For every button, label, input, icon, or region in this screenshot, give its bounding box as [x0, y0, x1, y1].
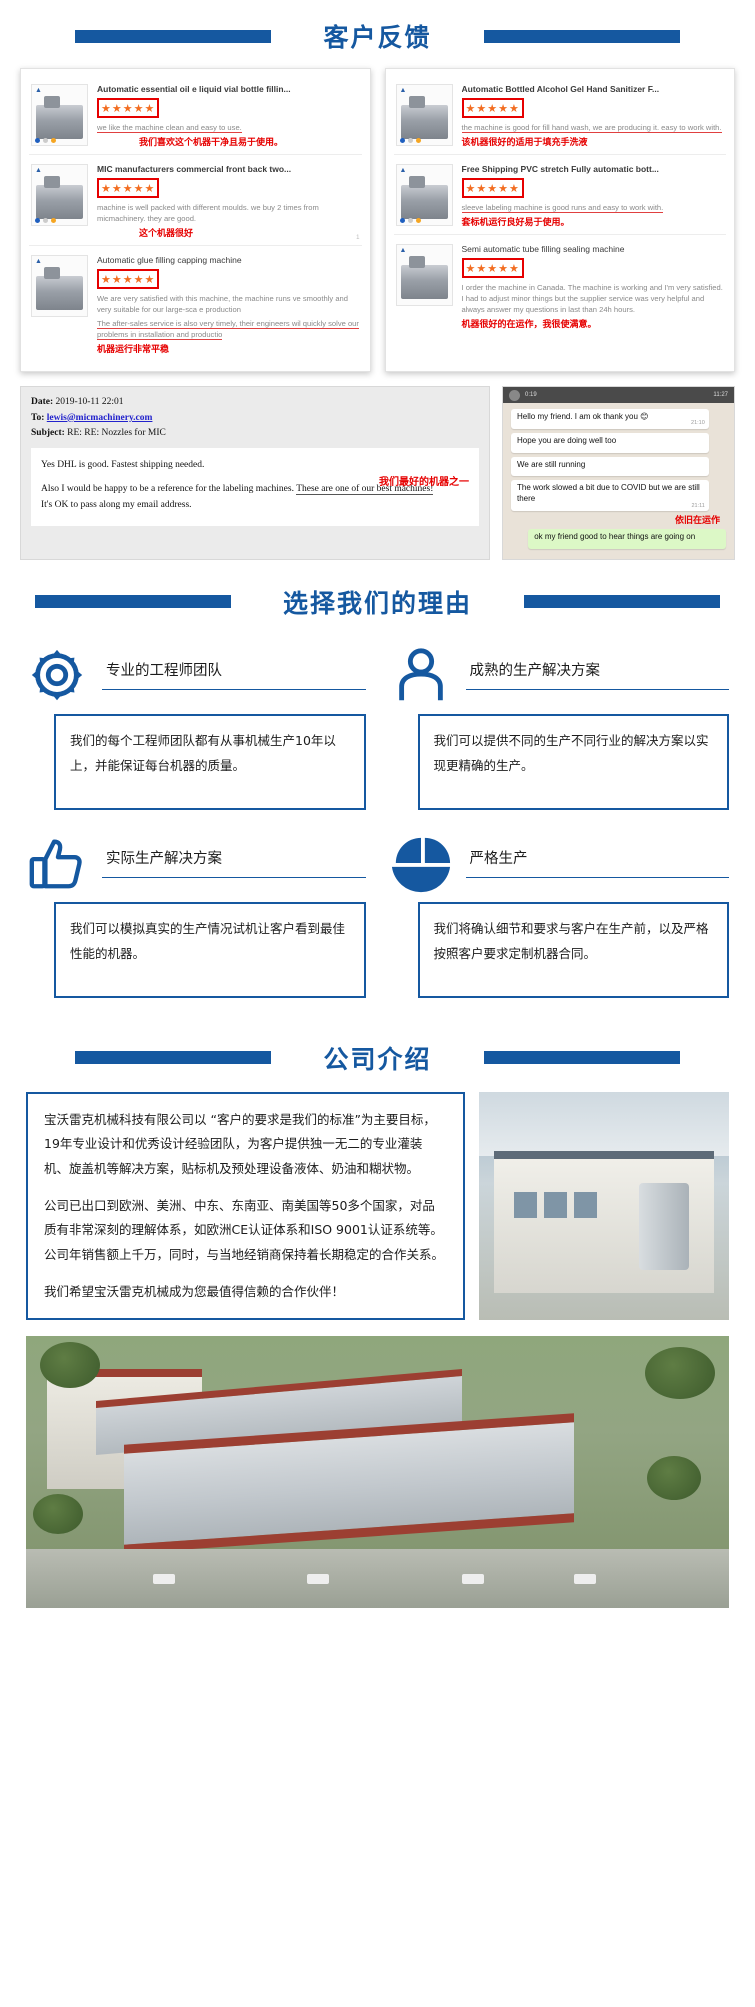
page-title-feedback: 客户反馈	[323, 18, 431, 54]
chat-header-time-right: 11:27	[713, 392, 728, 398]
whatsapp-chat-screenshot: 0:19 11:27 Hello my friend. I am ok than…	[502, 386, 735, 560]
proof-row: Date: 2019-10-11 22:01 To: lewis@micmach…	[0, 372, 755, 560]
email-text-cn: 我们最好的机器之一	[379, 474, 469, 491]
reason-body: 我们可以模拟真实的生产情况试机让客户看到最佳性能的机器。	[54, 902, 366, 998]
email-subject-value: RE: RE: Nozzles for MIC	[67, 428, 166, 438]
brand-logo-icon: ▲	[35, 258, 42, 265]
person-icon	[390, 644, 452, 706]
reasons-grid: 专业的工程师团队 我们的每个工程师团队都有从事机械生产10年以上，并能保证每台机…	[0, 634, 755, 1022]
star-rating-icon: ★★★★★	[462, 178, 524, 198]
gear-icon	[26, 644, 88, 706]
review-page-number: 1	[356, 235, 359, 241]
reason-title: 成熟的生产解决方案	[466, 659, 730, 690]
review-text-en: machine is well packed with different mo…	[97, 202, 360, 224]
email-line-4: It's OK to pass along my email address.	[41, 497, 469, 513]
product-thumbnail: ▲	[396, 244, 453, 306]
review-product-title[interactable]: Free Shipping PVC stretch Fully automati…	[462, 164, 725, 174]
email-screenshot: Date: 2019-10-11 22:01 To: lewis@micmach…	[20, 386, 490, 560]
star-rating-icon: ★★★★★	[97, 269, 159, 289]
review-card[interactable]: ▲ Automatic essential oil e liquid vial …	[29, 75, 362, 155]
review-card[interactable]: ▲ Free Shipping PVC stretch Fully automa…	[394, 155, 727, 235]
email-to-link[interactable]: lewis@micmachinery.com	[47, 413, 153, 423]
review-column-right: ▲ Automatic Bottled Alcohol Gel Hand San…	[385, 68, 736, 372]
reason-body: 我们将确认细节和要求与客户在生产前，以及严格按照客户要求定制机器合同。	[418, 902, 730, 998]
product-thumbnail: ▲	[31, 84, 88, 146]
review-card[interactable]: ▲ Semi automatic tube filling sealing ma…	[394, 235, 727, 336]
pie-chart-icon	[390, 832, 452, 894]
chat-message-time: 21:11	[691, 503, 704, 510]
review-text-cn: 机器运行非常平稳	[97, 342, 360, 355]
brand-logo-icon: ▲	[400, 167, 407, 174]
section-header-company: 公司介绍	[0, 1022, 755, 1090]
section-header-reasons: 选择我们的理由	[0, 566, 755, 634]
company-intro-p2: 公司已出口到欧洲、美洲、中东、东南亚、南美国等50多个国家，对品质有非常深刻的理…	[44, 1194, 447, 1267]
factory-aerial-photo	[26, 1336, 729, 1608]
avatar	[509, 390, 520, 401]
reviews-grid: ▲ Automatic essential oil e liquid vial …	[0, 68, 755, 372]
email-to-label: To:	[31, 413, 44, 423]
header-bar-right	[524, 595, 720, 608]
chat-header: 0:19 11:27	[503, 387, 734, 403]
star-rating-icon: ★★★★★	[97, 178, 159, 198]
chat-message-text: ok my friend good to hear things are goi…	[534, 532, 695, 541]
color-dots-icon	[35, 138, 56, 143]
review-column-left: ▲ Automatic essential oil e liquid vial …	[20, 68, 371, 372]
color-dots-icon	[35, 218, 56, 223]
review-product-title[interactable]: Automatic essential oil e liquid vial bo…	[97, 84, 360, 94]
reason-title: 严格生产	[466, 847, 730, 878]
review-text-cn: 套标机运行良好易于使用。	[462, 215, 725, 228]
reason-body: 我们可以提供不同的生产不同行业的解决方案以实现更精确的生产。	[418, 714, 730, 810]
chat-header-time-left: 0:19	[525, 392, 537, 398]
product-thumbnail: ▲	[396, 84, 453, 146]
company-intro-p1: 宝沃雷克机械科技有限公司以 “客户的要求是我们的标准”为主要目标，19年专业设计…	[44, 1108, 447, 1181]
email-date-label: Date:	[31, 397, 53, 407]
review-card[interactable]: ▲ Automatic Bottled Alcohol Gel Hand San…	[394, 75, 727, 155]
chat-message-in: The work slowed a bit due to COVID but w…	[511, 480, 709, 511]
company-intro: 宝沃雷克机械科技有限公司以 “客户的要求是我们的标准”为主要目标，19年专业设计…	[0, 1090, 755, 1321]
review-product-title[interactable]: Automatic glue filling capping machine	[97, 255, 360, 265]
email-line-1: Yes DHL is good. Fastest shipping needed…	[41, 457, 469, 473]
color-dots-icon	[400, 138, 421, 143]
page-title-reasons: 选择我们的理由	[283, 584, 472, 620]
chat-message-text: We are still running	[517, 460, 585, 469]
review-card[interactable]: ▲ MIC manufacturers commercial front bac…	[29, 155, 362, 246]
brand-logo-icon: ▲	[35, 167, 42, 174]
header-bar-left	[35, 595, 231, 608]
star-rating-icon: ★★★★★	[462, 98, 524, 118]
email-header: Date: 2019-10-11 22:01 To: lewis@micmach…	[31, 395, 479, 442]
marketing-page: 客户反馈 ▲ Automatic essential oil e liquid …	[0, 0, 755, 1608]
chat-message-in: Hello my friend. I am ok thank you 😊 21:…	[511, 409, 709, 429]
review-text-cn: 这个机器很好	[139, 226, 360, 239]
chat-message-text: Hello my friend. I am ok thank you 😊	[517, 412, 649, 421]
chat-message-in: We are still running	[511, 457, 709, 477]
chat-message-text: Hope you are doing well too	[517, 436, 616, 445]
review-text-en-2: The after-sales service is also very tim…	[97, 318, 360, 340]
reason-card-engineers: 专业的工程师团队 我们的每个工程师团队都有从事机械生产10年以上，并能保证每台机…	[26, 644, 366, 810]
reason-card-strict-production: 严格生产 我们将确认细节和要求与客户在生产前，以及严格按照客户要求定制机器合同。	[390, 832, 730, 998]
brand-logo-icon: ▲	[400, 87, 407, 94]
email-line-2: Also I would be happy to be a reference …	[41, 484, 294, 494]
product-thumbnail: ▲	[31, 164, 88, 226]
chat-message-in: Hope you are doing well too	[511, 433, 709, 453]
review-text-cn: 我们喜欢这个机器干净且易于使用。	[139, 135, 360, 148]
review-text-en: the machine is good for fill hand wash, …	[462, 122, 725, 133]
review-text-en: We are very satisfied with this machine,…	[97, 293, 360, 315]
header-bar-left	[75, 30, 271, 43]
reason-title: 专业的工程师团队	[102, 659, 366, 690]
reason-card-real-production: 实际生产解决方案 我们可以模拟真实的生产情况试机让客户看到最佳性能的机器。	[26, 832, 366, 998]
thumbs-up-icon	[26, 832, 88, 894]
email-date-value: 2019-10-11 22:01	[56, 397, 124, 407]
reason-card-solutions: 成熟的生产解决方案 我们可以提供不同的生产不同行业的解决方案以实现更精确的生产。	[390, 644, 730, 810]
chat-message-text: The work slowed a bit due to COVID but w…	[517, 483, 700, 503]
color-dots-icon	[400, 218, 421, 223]
review-text-cn: 该机器很好的适用于填充手洗液	[462, 135, 725, 148]
chat-text-cn: 依旧在运作	[511, 513, 720, 526]
reason-body: 我们的每个工程师团队都有从事机械生产10年以上，并能保证每台机器的质量。	[54, 714, 366, 810]
review-product-title[interactable]: Automatic Bottled Alcohol Gel Hand Sanit…	[462, 84, 725, 94]
workshop-photo	[479, 1092, 729, 1321]
review-text-en: I order the machine in Canada. The machi…	[462, 282, 725, 315]
review-product-title[interactable]: MIC manufacturers commercial front back …	[97, 164, 360, 174]
review-text-en: we like the machine clean and easy to us…	[97, 122, 360, 133]
product-thumbnail: ▲	[31, 255, 88, 317]
review-text-en: sleeve labeling machine is good runs and…	[462, 202, 725, 213]
chat-message-out: ok my friend good to hear things are goi…	[528, 529, 726, 549]
header-bar-right	[484, 30, 680, 43]
chat-message-time: 21:10	[691, 420, 705, 427]
email-body: Yes DHL is good. Fastest shipping needed…	[31, 448, 479, 526]
company-intro-p3: 我们希望宝沃雷克机械成为您最值得信赖的合作伙伴！	[44, 1280, 447, 1304]
reason-title: 实际生产解决方案	[102, 847, 366, 878]
company-intro-text: 宝沃雷克机械科技有限公司以 “客户的要求是我们的标准”为主要目标，19年专业设计…	[26, 1092, 465, 1321]
email-subject-label: Subject:	[31, 428, 65, 438]
header-bar-right	[484, 1051, 680, 1064]
star-rating-icon: ★★★★★	[97, 98, 159, 118]
brand-logo-icon: ▲	[35, 87, 42, 94]
review-product-title[interactable]: Semi automatic tube filling sealing mach…	[462, 244, 725, 254]
review-card[interactable]: ▲ Automatic glue filling capping machine…	[29, 246, 362, 361]
header-bar-left	[75, 1051, 271, 1064]
section-header-feedback: 客户反馈	[0, 0, 755, 68]
review-text-cn: 机器很好的在运作，我很使满意。	[462, 317, 725, 330]
brand-logo-icon: ▲	[400, 247, 407, 254]
star-rating-icon: ★★★★★	[462, 258, 524, 278]
product-thumbnail: ▲	[396, 164, 453, 226]
page-title-company: 公司介绍	[323, 1040, 431, 1076]
